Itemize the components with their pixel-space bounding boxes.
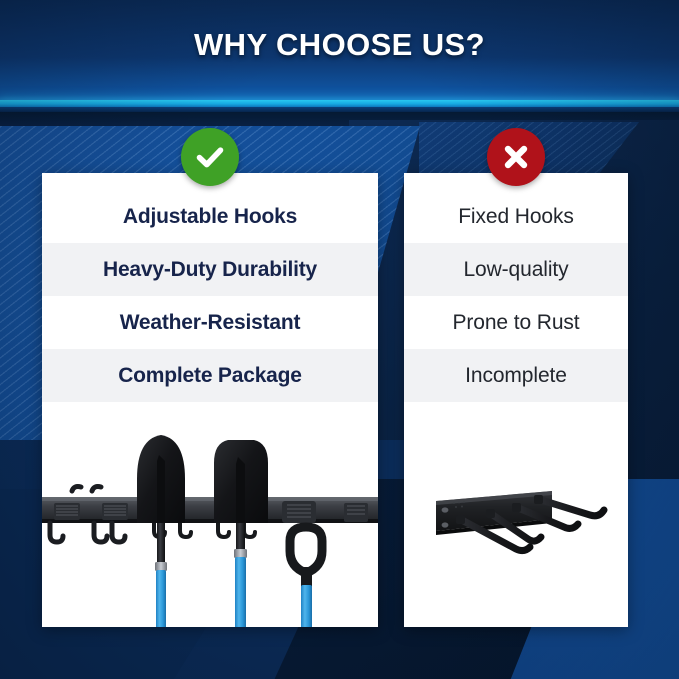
cons-product-image [404,431,628,627]
list-item: Weather-Resistant [42,296,378,349]
cons-badge [487,128,545,186]
accent-cyan-line [0,100,679,107]
pros-item-label: Adjustable Hooks [123,205,297,229]
cons-item-label: Prone to Rust [452,311,579,335]
fixed-hook-bar-illustration [404,431,628,627]
list-item: Prone to Rust [404,296,628,349]
cons-item-label: Incomplete [465,364,567,388]
pros-item-label: Complete Package [118,364,302,388]
list-item: Fixed Hooks [404,190,628,243]
list-item: Heavy-Duty Durability [42,243,378,296]
list-item: Complete Package [42,349,378,402]
pros-card: Adjustable Hooks Heavy-Duty Durability W… [42,173,378,627]
page-title: WHY CHOOSE US? [0,27,679,63]
cons-item-label: Low-quality [463,258,568,282]
tool-rail-with-shovels-illustration [42,427,378,627]
pros-item-label: Heavy-Duty Durability [103,258,317,282]
pros-item-label: Weather-Resistant [120,311,301,335]
cons-list: Fixed Hooks Low-quality Prone to Rust In… [404,173,628,402]
x-circle-icon [501,142,531,172]
list-item: Low-quality [404,243,628,296]
cons-card: Fixed Hooks Low-quality Prone to Rust In… [404,173,628,627]
pros-badge [181,128,239,186]
list-item: Adjustable Hooks [42,190,378,243]
comparison-infographic: WHY CHOOSE US? Adjustable Hooks Heavy-Du… [0,0,679,679]
list-item: Incomplete [404,349,628,402]
check-circle-icon [193,140,227,174]
cons-item-label: Fixed Hooks [458,205,574,229]
pros-product-image [42,427,378,627]
pros-list: Adjustable Hooks Heavy-Duty Durability W… [42,173,378,402]
